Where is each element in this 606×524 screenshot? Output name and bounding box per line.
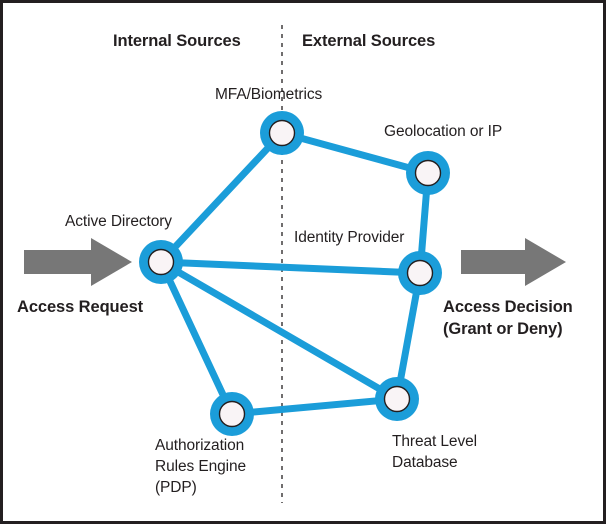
node-label-mfa-biometrics: MFA/Biometrics: [215, 84, 322, 105]
node-label-geolocation-or-ip: Geolocation or IP: [384, 121, 502, 142]
node-mfa-biometrics[interactable]: [260, 111, 304, 155]
node-label-authorization-rules-engine: Authorization Rules Engine (PDP): [155, 435, 246, 498]
node-label-threat-level-database: Threat Level Database: [392, 431, 477, 473]
node-active-directory[interactable]: [139, 240, 183, 284]
access-decision-arrow-icon: [461, 238, 566, 286]
access-decision-label-line2: (Grant or Deny): [443, 319, 563, 339]
edge-pdp-threat: [232, 399, 397, 414]
access-request-arrow-icon: [24, 238, 132, 286]
external-sources-header: External Sources: [302, 31, 435, 52]
diagram-canvas: [3, 3, 606, 524]
edge-ad-idp: [161, 262, 420, 273]
edge-ad-mfa: [161, 133, 282, 262]
internal-sources-header: Internal Sources: [113, 31, 241, 52]
node-identity-provider[interactable]: [398, 251, 442, 295]
access-request-label: Access Request: [17, 297, 143, 317]
node-threat-level-database[interactable]: [375, 377, 419, 421]
diagram-frame: Internal Sources External Sources MFA/Bi…: [0, 0, 606, 524]
access-decision-label-line1: Access Decision: [443, 297, 573, 317]
node-authorization-rules-engine[interactable]: [210, 392, 254, 436]
node-label-active-directory: Active Directory: [65, 211, 172, 232]
node-label-identity-provider: Identity Provider: [294, 227, 404, 248]
node-geolocation-or-ip[interactable]: [406, 151, 450, 195]
